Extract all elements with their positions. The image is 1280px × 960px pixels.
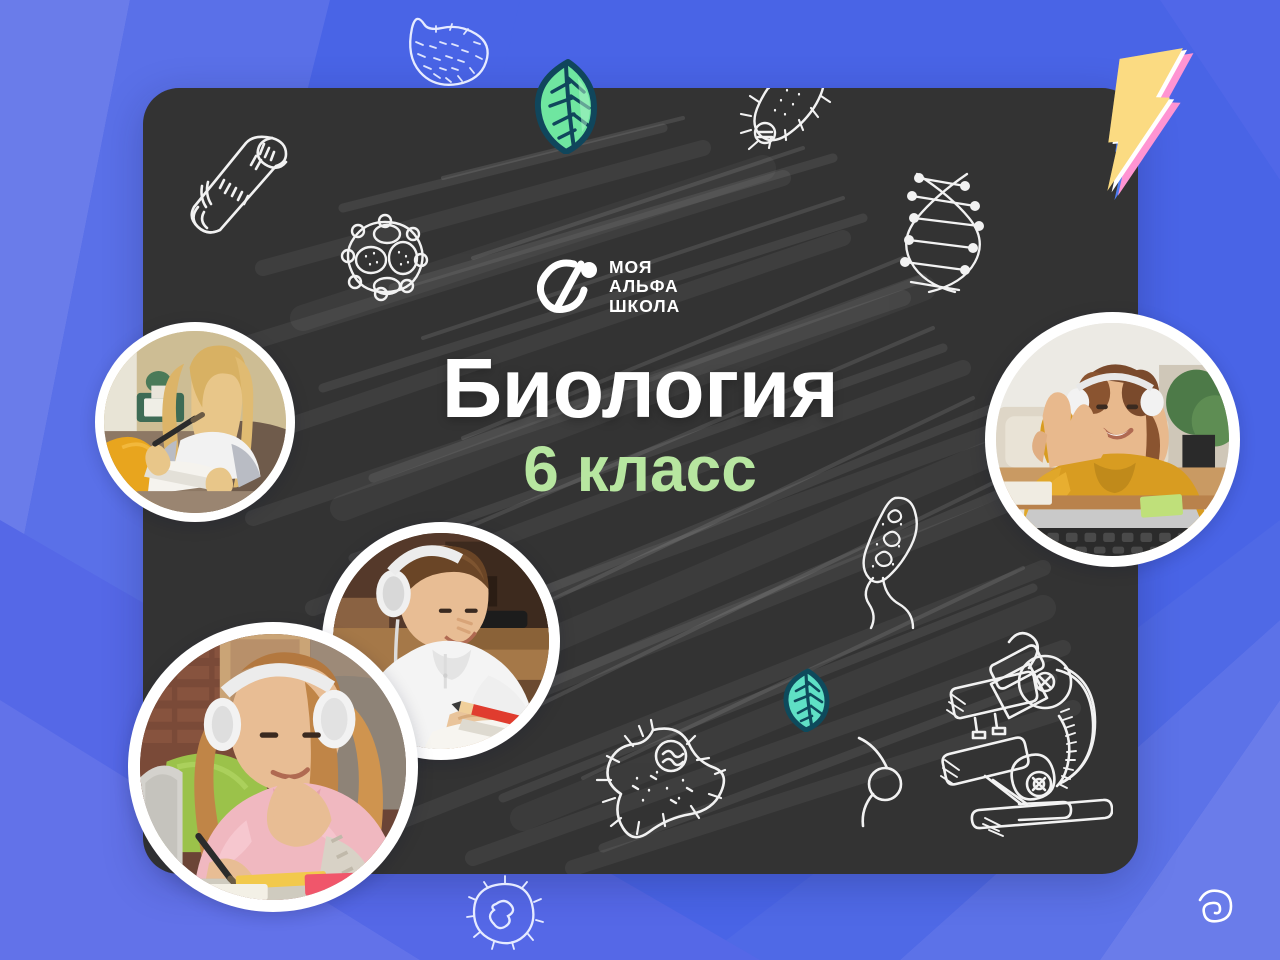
- alpha-mark-icon: [537, 258, 599, 314]
- leaf-icon-top: [534, 58, 598, 159]
- cover-canvas: МОЯ АЛЬФА ШКОЛА Биология 6 класс: [0, 0, 1280, 960]
- microscope-icon: [933, 608, 1113, 838]
- photo-girl-waving-headphones: [985, 312, 1240, 567]
- leaf-icon-bottom: [782, 668, 830, 737]
- brand-logo[interactable]: МОЯ АЛЬФА ШКОЛА: [537, 255, 717, 317]
- spermatozoon-icon: [843, 728, 923, 828]
- photo-girl-thinking-notebook: [95, 322, 295, 522]
- dna-helix-icon: [883, 166, 1003, 296]
- flask-icon: [168, 118, 308, 258]
- photo-girl-pink-laptop: [128, 622, 418, 912]
- brand-name: МОЯ АЛЬФА ШКОЛА: [609, 256, 717, 317]
- virus-icon: [335, 208, 435, 308]
- paramecium-icon: [386, 8, 496, 98]
- amoeba-icon: [587, 718, 727, 848]
- cell-icon: [462, 872, 548, 958]
- bacillus-bacteria-icon: [737, 88, 847, 168]
- spiral-swirl-icon: [1192, 884, 1234, 926]
- lightning-bolt-3d-icon: [1060, 28, 1240, 208]
